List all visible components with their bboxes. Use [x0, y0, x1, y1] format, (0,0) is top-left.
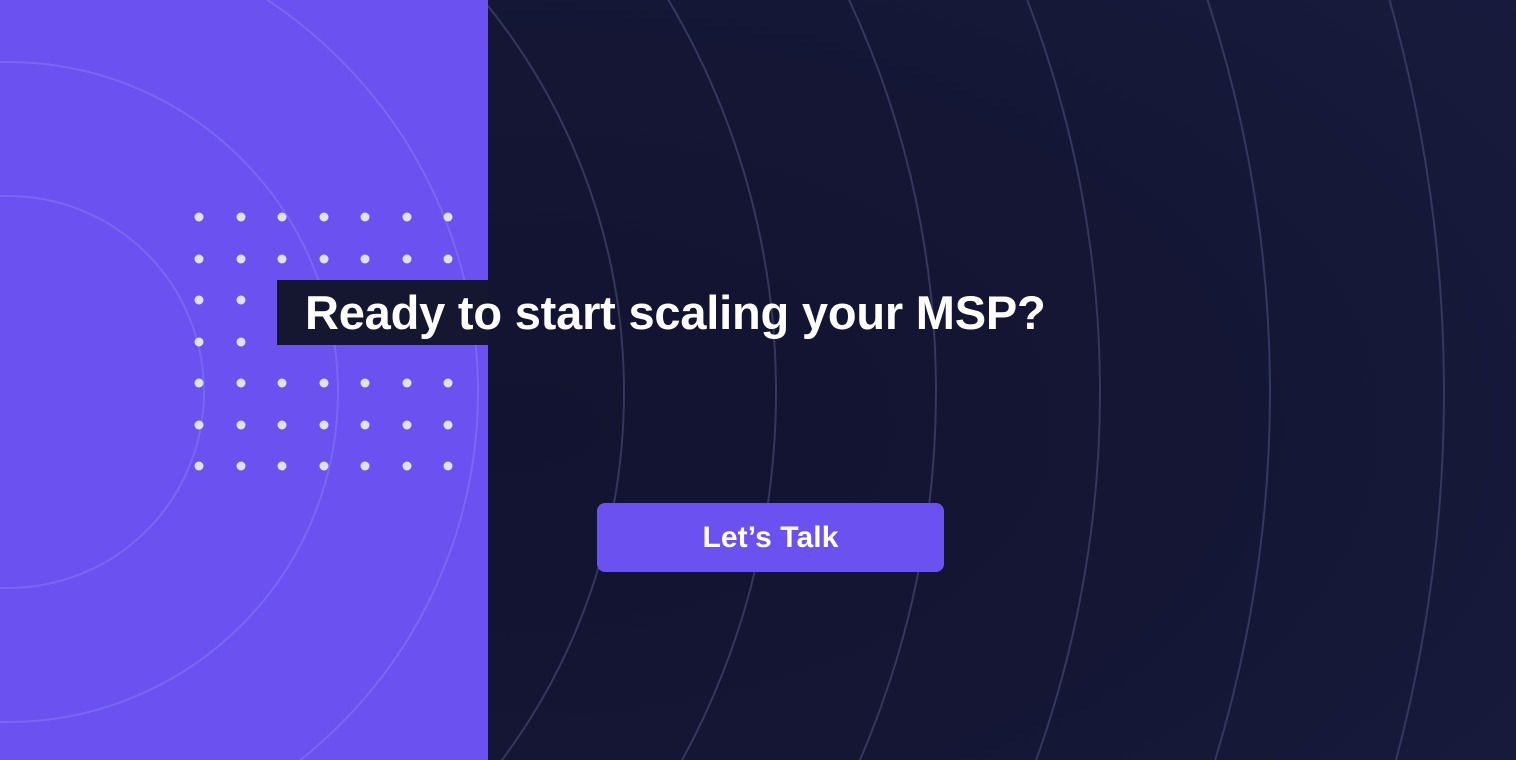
lets-talk-button[interactable]: Let’s Talk	[597, 503, 944, 572]
page-title: Ready to start scaling your MSP?	[305, 280, 1046, 345]
cta-banner: Ready to start scaling your MSP? Let’s T…	[0, 0, 1516, 760]
purple-panel	[0, 0, 488, 760]
purple-panel-rings	[0, 0, 488, 760]
